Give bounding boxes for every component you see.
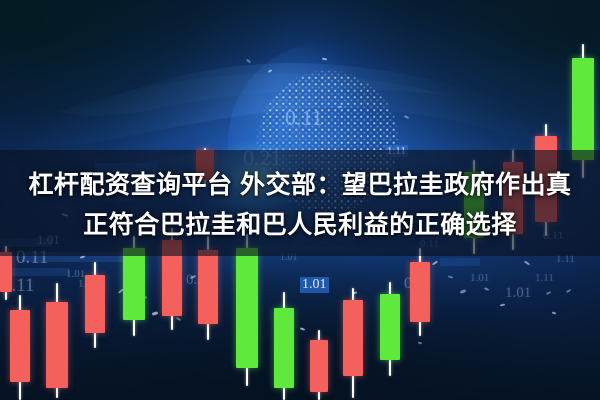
candlestick bbox=[10, 295, 30, 400]
candlestick-body bbox=[310, 340, 328, 392]
candlestick-body bbox=[410, 262, 430, 322]
candlestick-body bbox=[343, 300, 363, 376]
candlestick-body bbox=[380, 294, 400, 360]
candlestick-body bbox=[198, 250, 218, 324]
candlestick bbox=[236, 234, 258, 386]
candlestick bbox=[274, 292, 294, 400]
candlestick bbox=[46, 283, 68, 398]
data-bar bbox=[440, 258, 480, 266]
candlestick-body bbox=[572, 58, 594, 160]
candlestick bbox=[410, 248, 430, 336]
headline-text: 杠杆配资查询平台 外交部：望巴拉圭政府作出真 正符合巴拉圭和巴人民利益的正确选择 bbox=[0, 165, 600, 245]
candlestick-body bbox=[46, 302, 68, 388]
candlestick-body bbox=[10, 310, 30, 382]
candlestick-body bbox=[0, 252, 12, 292]
headline-line-1: 杠杆配资查询平台 外交部：望巴拉圭政府作出真 bbox=[0, 165, 600, 205]
data-bar bbox=[10, 268, 70, 276]
candlestick bbox=[343, 288, 363, 398]
candlestick-body bbox=[123, 248, 145, 320]
candlestick bbox=[310, 330, 328, 400]
candlestick bbox=[380, 282, 400, 376]
headline-line-2: 正符合巴拉圭和巴人民利益的正确选择 bbox=[0, 205, 600, 245]
candlestick bbox=[85, 262, 105, 348]
banner-image: 0.110.211.113.110.111.010.110.111.011.01… bbox=[0, 0, 600, 400]
candlestick-body bbox=[85, 275, 105, 333]
candlestick-body bbox=[236, 248, 258, 368]
candlestick-body bbox=[274, 308, 294, 388]
